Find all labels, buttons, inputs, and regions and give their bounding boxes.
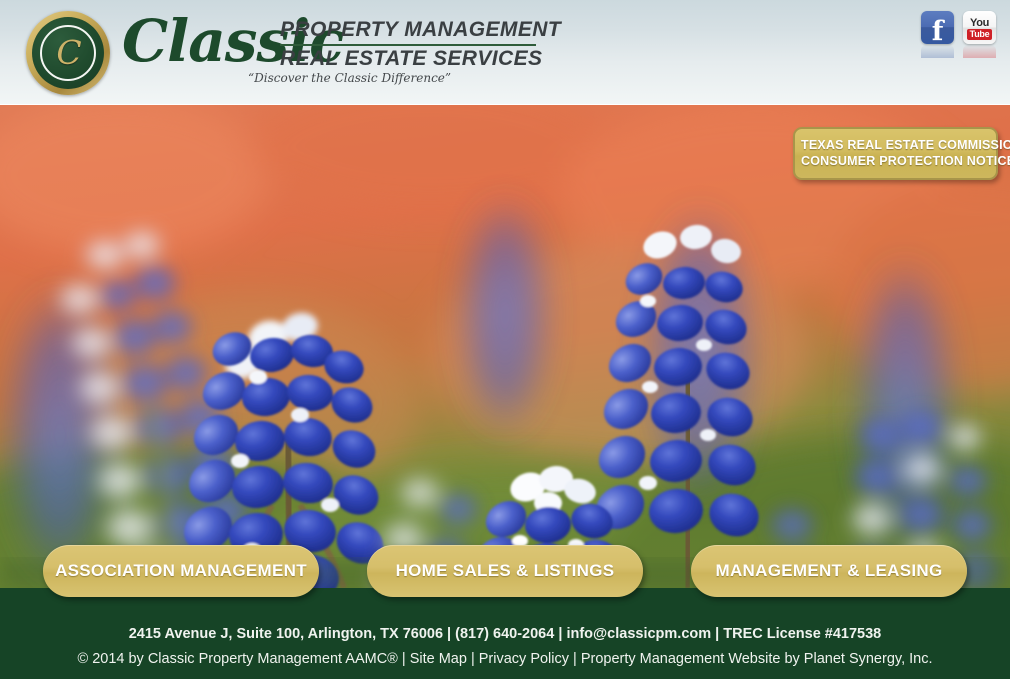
footer-phone: (817) 640-2064	[455, 626, 554, 642]
footer-separator-6: |	[569, 651, 581, 667]
hero-banner: TEXAS REAL ESTATE COMMISSION CONSUMER PR…	[0, 105, 1010, 588]
facebook-glyph: f	[932, 18, 944, 44]
nav-button-label: HOME SALES & LISTINGS	[396, 561, 615, 581]
nav-button-label: MANAGEMENT & LEASING	[716, 561, 943, 581]
footer-separator-2: |	[554, 626, 566, 642]
youtube-icon[interactable]: You Tube	[963, 11, 996, 44]
footer-separator-4: |	[398, 651, 410, 667]
footer-separator-1: |	[443, 626, 455, 642]
facebook-icon[interactable]: f	[921, 11, 954, 44]
footer-separator-5: |	[467, 651, 479, 667]
footer-link-site-map[interactable]: Site Map	[410, 651, 467, 667]
facebook-icon-reflection	[921, 45, 954, 58]
footer-separator-3: |	[711, 626, 723, 642]
footer-link-privacy-policy[interactable]: Privacy Policy	[479, 651, 569, 667]
youtube-glyph-you: You	[970, 18, 989, 28]
trec-line-1: TEXAS REAL ESTATE COMMISSION	[801, 137, 990, 153]
facebook-link[interactable]: f	[921, 11, 954, 58]
trec-line-2: CONSUMER PROTECTION NOTICE	[801, 153, 990, 169]
wordmark-subtitles: PROPERTY MANAGEMENT REAL ESTATE SERVICES	[280, 18, 538, 71]
monogram-letter: C	[56, 36, 81, 69]
nav-button-management-leasing[interactable]: MANAGEMENT & LEASING	[691, 545, 967, 597]
classic-monogram-icon[interactable]: C	[26, 11, 110, 95]
youtube-link[interactable]: You Tube	[963, 11, 996, 58]
wordmark-real-estate-services: REAL ESTATE SERVICES	[280, 47, 538, 71]
youtube-glyph-tube: Tube	[967, 29, 993, 40]
youtube-icon-reflection	[963, 45, 996, 58]
trec-consumer-protection-notice-button[interactable]: TEXAS REAL ESTATE COMMISSION CONSUMER PR…	[793, 127, 998, 180]
nav-button-label: ASSOCIATION MANAGEMENT	[55, 561, 307, 581]
page-root: C Classic PROPERTY MANAGEMENT REAL ESTAT…	[0, 0, 1010, 679]
footer-link-planet-synergy[interactable]: Property Management Website by Planet Sy…	[581, 651, 933, 667]
wordmark-property-management: PROPERTY MANAGEMENT	[280, 18, 538, 42]
social-links: f You Tube	[921, 11, 996, 58]
footer-trec-license: TREC License #417538	[723, 626, 881, 642]
primary-nav-buttons: ASSOCIATION MANAGEMENT HOME SALES & LIST…	[0, 545, 1010, 601]
nav-button-association-management[interactable]: ASSOCIATION MANAGEMENT	[43, 545, 319, 597]
site-header: C Classic PROPERTY MANAGEMENT REAL ESTAT…	[0, 0, 1010, 105]
nav-button-home-sales-listings[interactable]: HOME SALES & LISTINGS	[367, 545, 643, 597]
footer-address: 2415 Avenue J, Suite 100, Arlington, TX …	[129, 626, 443, 642]
footer-email-link[interactable]: info@classicpm.com	[566, 626, 711, 642]
wordmark-divider	[280, 44, 536, 46]
tagline: “Discover the Classic Difference”	[248, 71, 451, 85]
monogram-inner-disc: C	[32, 17, 104, 89]
site-footer: 2415 Avenue J, Suite 100, Arlington, TX …	[0, 588, 1010, 679]
footer-copyright: © 2014 by Classic Property Management AA…	[77, 651, 397, 667]
footer-legal-line: © 2014 by Classic Property Management AA…	[0, 646, 1010, 671]
